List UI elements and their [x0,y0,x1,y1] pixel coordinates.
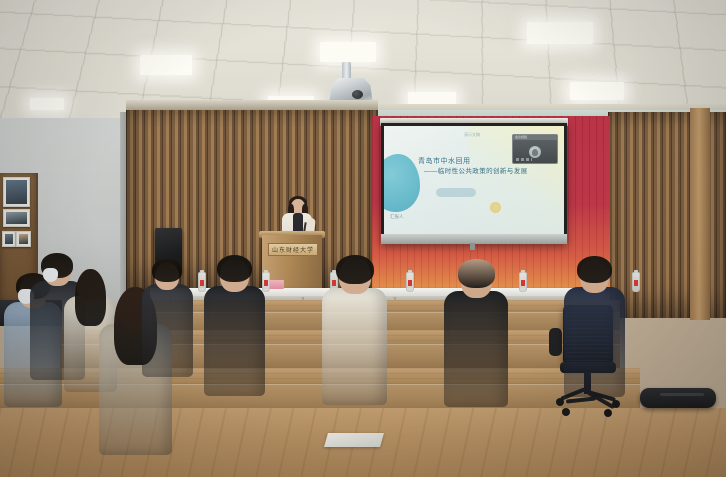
framed-photo-small-right [16,231,31,247]
slide-blob-decoration [384,154,420,212]
audience-member-8-torso [564,287,625,397]
framed-photo-lighthouse-image [6,180,27,204]
framed-photo-small-left-image [5,234,13,244]
lectern-nameplate: 山东财经大学 [268,243,318,256]
audience-member-6-hair [336,255,374,284]
audience-member-6 [318,254,396,422]
slide-chip [436,188,476,197]
framed-photo-small-left [2,231,16,247]
papers-on-bench [324,433,384,447]
panel-light-3 [527,22,593,44]
water-bottle-4 [406,272,414,292]
framed-photo-small-right-image [19,234,28,244]
video-call-window: 会议视频 [512,134,558,164]
audience-member-9 [138,258,200,390]
audience-member-5-hair [217,255,253,282]
audience-member-8-hair [577,256,613,283]
audience-member-6-torso [322,288,387,406]
water-bottle-5 [519,272,527,292]
audience-member-9-torso [142,284,193,376]
projection-screen: 演示文稿 青岛市中水回用 ——临时性公共政策的创新与发展 汇报人 会议视频 [384,126,564,234]
panel-light-1 [140,55,192,75]
screen-pull-handle-icon [470,243,475,250]
slide-footer-note: 汇报人 [390,214,404,220]
framed-photo-lighthouse [3,177,30,207]
audience-member-8 [560,255,634,413]
audience-member-7 [440,258,517,423]
audience-member-7-torso [444,291,508,407]
lectern-nameplate-text: 山东财经大学 [272,245,314,254]
framed-photo-landscape-image [6,212,27,224]
slat-wall-top-trim [126,100,378,110]
audience-member-5-torso [204,286,265,396]
video-controls-icon [516,158,532,161]
slide-subtitle: ——临时性公共政策的创新与发展 [424,168,550,176]
framed-photo-landscape [3,209,30,227]
panel-light-7 [30,98,64,110]
panel-light-2 [320,42,376,62]
wood-corner-post [690,108,710,320]
floor-bag [640,388,716,408]
audience-member-9-hair [152,259,182,282]
lecture-hall-photo: 演示文稿 青岛市中水回用 ——临时性公共政策的创新与发展 汇报人 会议视频 山东… [0,0,726,477]
audience-member-7-hair [458,259,495,288]
floor-bag-strap [660,393,704,396]
projector-lens-icon [352,90,363,99]
panel-light-6 [570,82,624,100]
slide-dot-decoration [490,202,501,213]
video-avatar-icon [529,146,541,158]
video-window-title: 会议视频 [515,135,527,139]
audience-member-5 [200,254,274,412]
slide-top-mark: 演示文稿 [464,132,480,138]
